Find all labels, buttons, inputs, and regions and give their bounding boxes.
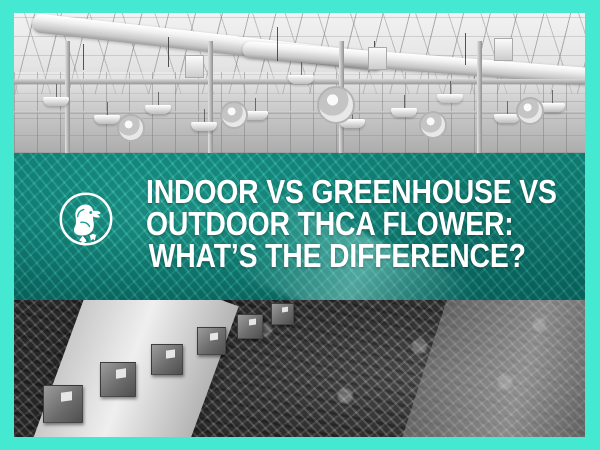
ballast-box — [494, 38, 513, 61]
ballast-box — [185, 55, 204, 78]
grow-pot — [237, 314, 263, 339]
grow-pot — [151, 344, 183, 375]
support-post — [208, 41, 213, 153]
grow-light — [288, 75, 314, 84]
ballast-box — [368, 47, 387, 70]
indoor-grow-facility-photo — [14, 13, 585, 153]
support-post — [477, 41, 482, 153]
hanging-cord — [83, 44, 84, 70]
grow-pot — [197, 327, 226, 355]
grow-light — [391, 108, 417, 117]
page-title: INDOOR VS GREENHOUSE VS OUTDOOR THCA FLO… — [146, 176, 516, 272]
headline-line-3: WHAT’S THE DIFFERENCE? — [146, 240, 516, 272]
circulation-fan — [220, 101, 248, 129]
grow-light — [43, 97, 69, 106]
grow-pot — [43, 385, 83, 423]
hanging-cord — [168, 37, 169, 67]
outdoor-grow-rows-photo — [14, 300, 585, 437]
grow-light — [437, 94, 463, 103]
hanging-cord — [465, 33, 466, 65]
grow-light — [94, 115, 120, 124]
puffin-bird-in-circle-logo — [58, 191, 114, 247]
grow-pot — [271, 303, 294, 325]
grow-pot — [100, 362, 136, 397]
banner-graphic: INDOOR VS GREENHOUSE VS OUTDOOR THCA FLO… — [0, 0, 600, 450]
circulation-fan — [117, 114, 145, 142]
headline-line-2: OUTDOOR THCA FLOWER: — [146, 208, 516, 240]
hanging-cord — [277, 27, 278, 61]
circulation-fan — [317, 86, 355, 124]
grow-light — [191, 122, 217, 131]
headline-line-1: INDOOR VS GREENHOUSE VS — [146, 176, 516, 208]
